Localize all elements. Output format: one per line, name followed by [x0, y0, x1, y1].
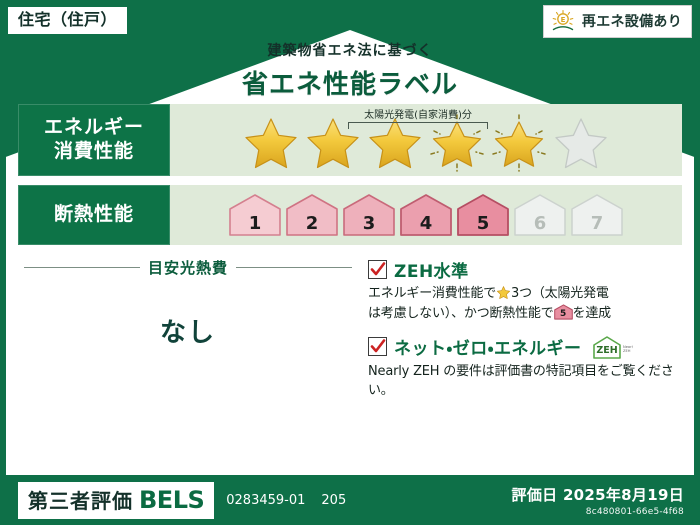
certificate-number: 0283459-01 — [226, 493, 305, 508]
star-4-solar — [427, 114, 487, 172]
bels-logo-text: BELS — [139, 486, 204, 514]
insulation-level-7: 7 — [570, 193, 624, 237]
title-block: 建築物省エネ法に基づく 省エネ性能ラベル — [0, 40, 700, 101]
zeh-standard-desc-part3: を達成 — [573, 306, 611, 321]
zeh-logo: ZEH Nearly ZEH — [591, 334, 633, 360]
label-content-card: エネルギー 消費性能 太陽光発電(自家消費)分 — [18, 104, 682, 473]
inline-insulation-badge: 5 — [554, 304, 573, 320]
insulation-level-2: 2 — [285, 193, 339, 237]
title-subtitle: 建築物省エネ法に基づく — [0, 40, 700, 60]
energy-performance-row: エネルギー 消費性能 太陽光発電(自家消費)分 — [18, 104, 682, 176]
insulation-level-3: 3 — [342, 193, 396, 237]
zeh-standard-desc-stars: 3つ（太陽光発電 — [511, 286, 609, 301]
insulation-level-4: 4 — [399, 193, 453, 237]
zeh-net-zero-title: ネット・ゼロ・エネルギー — [394, 334, 582, 359]
energy-performance-label: エネルギー 消費性能 — [18, 104, 170, 176]
zeh-standard-header: ZEH水準 — [368, 257, 682, 282]
zeh-net-zero-header: ネット・ゼロ・エネルギー ZEH Nearly ZEH — [368, 334, 682, 360]
renewable-badge-label: 再エネ設備あり — [582, 11, 682, 31]
check-icon — [370, 261, 386, 278]
energy-label-root: 住宅（住戸） E 再エネ設備あり 建築物省エネ法に基づく 省エネ性能ラベル — [0, 0, 700, 525]
zeh-standard-title: ZEH水準 — [394, 257, 469, 282]
insulation-performance-label: 断熱性能 — [18, 185, 170, 245]
zeh-standard-desc-part2: は考慮しない）、かつ断熱性能で — [368, 306, 554, 321]
star-3 — [365, 114, 425, 172]
evaluation-info: 評価日 2025年8月19日 8c480801-66e5-4f68 — [512, 484, 684, 517]
energy-performance-body: 太陽光発電(自家消費)分 — [170, 104, 682, 176]
energy-label-line1: エネルギー — [44, 116, 144, 140]
building-type-tag: 住宅（住戸） — [7, 6, 128, 35]
utility-cost-heading-text: 目安光熱費 — [148, 257, 228, 278]
star-1 — [241, 114, 301, 172]
zeh-net-zero-description: Nearly ZEH の要件は評価書の特記項目をご覧ください。 — [368, 363, 682, 401]
svg-text:ZEH: ZEH — [623, 349, 631, 353]
insulation-level-4-number: 4 — [399, 215, 453, 233]
insulation-level-6: 6 — [513, 193, 567, 237]
insulation-performance-body: 1 2 3 — [170, 185, 682, 245]
certificate-numbers: 0283459-01 205 — [226, 493, 346, 508]
insulation-level-5: 5 — [456, 193, 510, 237]
zeh-criteria-section: ZEH水準 エネルギー消費性能で3つ（太陽光発電は考慮しない）、かつ断熱性能で5… — [366, 257, 682, 407]
zeh-criterion-net-zero: ネット・ゼロ・エネルギー ZEH Nearly ZEH Nearly ZEH の… — [368, 334, 682, 401]
utility-cost-value: なし — [18, 312, 358, 349]
lower-section: 目安光熱費 なし ZEH水準 エネルギー消費性能で — [18, 257, 682, 407]
insulation-level-scale: 1 2 3 — [228, 193, 624, 237]
evaluation-hash: 8c480801-66e5-4f68 — [512, 507, 684, 517]
insulation-level-1: 1 — [228, 193, 282, 237]
star-5-solar — [489, 114, 549, 172]
inline-insulation-badge-number: 5 — [554, 310, 573, 319]
star-2 — [303, 114, 363, 172]
insulation-level-2-number: 2 — [285, 215, 339, 233]
energy-label-line2: 消費性能 — [54, 140, 134, 164]
insulation-level-6-number: 6 — [513, 215, 567, 233]
insulation-performance-row: 断熱性能 1 2 — [18, 185, 682, 245]
certificate-suffix: 205 — [321, 493, 346, 508]
svg-text:E: E — [560, 16, 565, 24]
svg-text:ZEH: ZEH — [596, 345, 617, 356]
insulation-level-5-number: 5 — [456, 215, 510, 233]
insulation-level-3-number: 3 — [342, 215, 396, 233]
evaluation-date: 評価日 2025年8月19日 — [512, 484, 684, 505]
utility-cost-section: 目安光熱費 なし — [18, 257, 366, 407]
inline-star-icon — [496, 285, 511, 300]
renewable-equipment-badge: E 再エネ設備あり — [543, 5, 692, 38]
utility-cost-heading: 目安光熱費 — [18, 257, 358, 278]
zeh-criterion-standard: ZEH水準 エネルギー消費性能で3つ（太陽光発電は考慮しない）、かつ断熱性能で5… — [368, 257, 682, 324]
check-icon — [370, 338, 386, 355]
star-rating — [241, 108, 611, 172]
zeh-standard-checkbox[interactable] — [368, 260, 387, 279]
bels-certification-mark: 第三者評価 BELS — [18, 482, 214, 519]
insulation-level-7-number: 7 — [570, 215, 624, 233]
insulation-level-1-number: 1 — [228, 215, 282, 233]
zeh-standard-description: エネルギー消費性能で3つ（太陽光発電は考慮しない）、かつ断熱性能で5を達成 — [368, 285, 682, 324]
zeh-standard-desc-part1: エネルギー消費性能で — [368, 286, 496, 301]
footer-bar: 第三者評価 BELS 0283459-01 205 評価日 2025年8月19日… — [0, 475, 700, 525]
insulation-label-text: 断熱性能 — [54, 203, 134, 227]
page-title: 省エネ性能ラベル — [0, 64, 700, 101]
sun-icon: E — [550, 9, 576, 33]
star-6-empty — [551, 114, 611, 172]
zeh-net-zero-checkbox[interactable] — [368, 337, 387, 356]
bels-japanese-label: 第三者評価 — [28, 485, 133, 514]
